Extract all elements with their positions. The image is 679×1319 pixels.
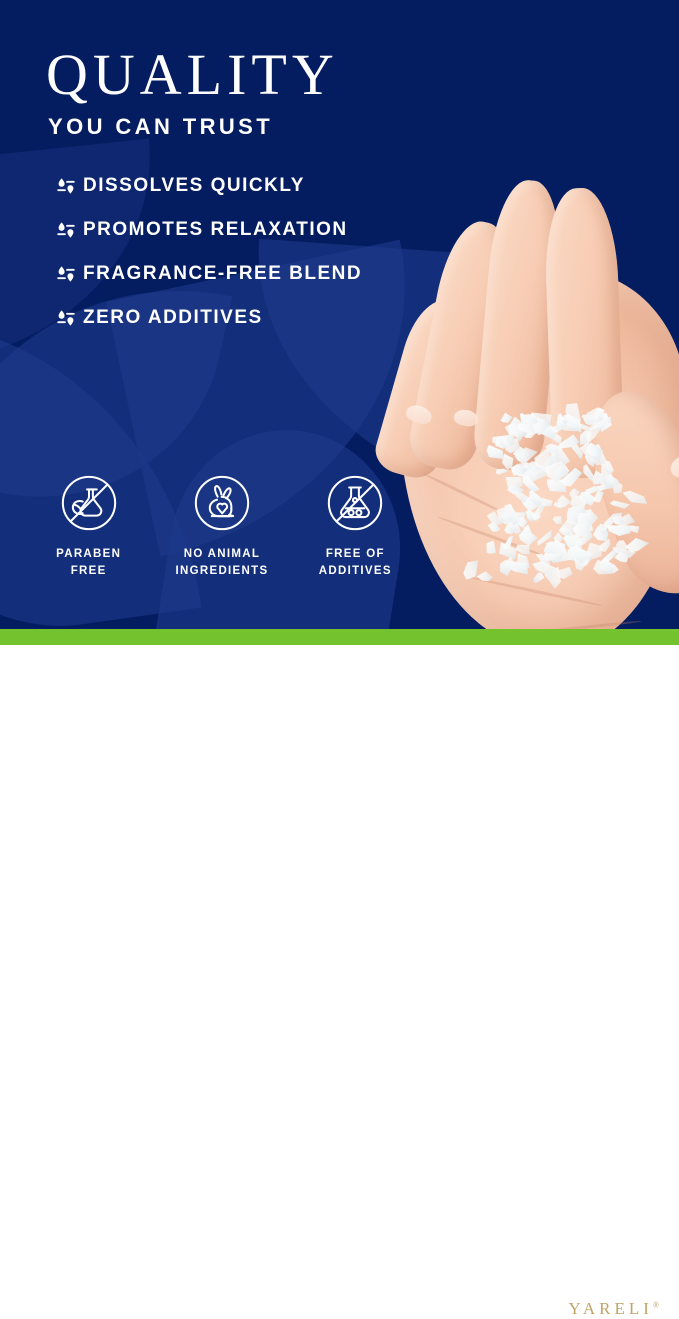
salt-flake [459, 555, 483, 584]
trademark-symbol: ® [653, 1300, 659, 1309]
badge-label: FREE OF ADDITIVES [319, 546, 392, 579]
feature-list: DISSOLVES QUICKLY PROMOTES RELAXATION [56, 164, 386, 340]
double-droplet-icon [56, 265, 76, 283]
brand-name: YARELI [568, 1299, 652, 1318]
list-item: ZERO ADDITIVES [56, 296, 386, 340]
product-infographic: QUALITY YOU CAN TRUST DISSOLVES QUICKLY [0, 0, 679, 679]
list-item: DISSOLVES QUICKLY [56, 164, 386, 208]
list-item: PROMOTES RELAXATION [56, 208, 386, 252]
green-divider-bar [0, 629, 679, 645]
salt-flake [607, 498, 630, 511]
badge-free-of-additives: FREE OF ADDITIVES [289, 472, 422, 579]
salt-flake-pile [460, 386, 656, 594]
list-item: FRAGRANCE-FREE BLEND [56, 252, 386, 296]
feature-label: FRAGRANCE-FREE BLEND [83, 263, 362, 285]
footer-bar: YARELI® [0, 645, 679, 679]
salt-flake [475, 568, 494, 587]
double-droplet-icon [56, 177, 76, 195]
brand-logo: YARELI® [568, 1299, 659, 1319]
badge-label: NO ANIMAL INGREDIENTS [176, 546, 269, 579]
salt-flake [553, 515, 563, 527]
cruelty-free-rabbit-heart-icon [191, 472, 253, 534]
page-title: QUALITY [46, 46, 339, 104]
no-paraben-flask-leaf-icon [58, 472, 120, 534]
navy-background-panel: QUALITY YOU CAN TRUST DISSOLVES QUICKLY [0, 0, 679, 629]
badge-paraben-free: PARABEN FREE [22, 472, 155, 579]
feature-label: DISSOLVES QUICKLY [83, 175, 305, 197]
salt-flake [592, 559, 614, 574]
double-droplet-icon [56, 309, 76, 327]
no-additives-flask-icon [324, 472, 386, 534]
badge-label: PARABEN FREE [56, 546, 121, 579]
feature-label: ZERO ADDITIVES [83, 307, 263, 329]
double-droplet-icon [56, 221, 76, 239]
feature-label: PROMOTES RELAXATION [83, 219, 348, 241]
badge-no-animal-ingredients: NO ANIMAL INGREDIENTS [155, 472, 288, 579]
salt-flake [482, 538, 500, 561]
trust-badge-row: PARABEN FREE NO ANIM [22, 472, 422, 579]
page-subtitle: YOU CAN TRUST [48, 114, 273, 140]
